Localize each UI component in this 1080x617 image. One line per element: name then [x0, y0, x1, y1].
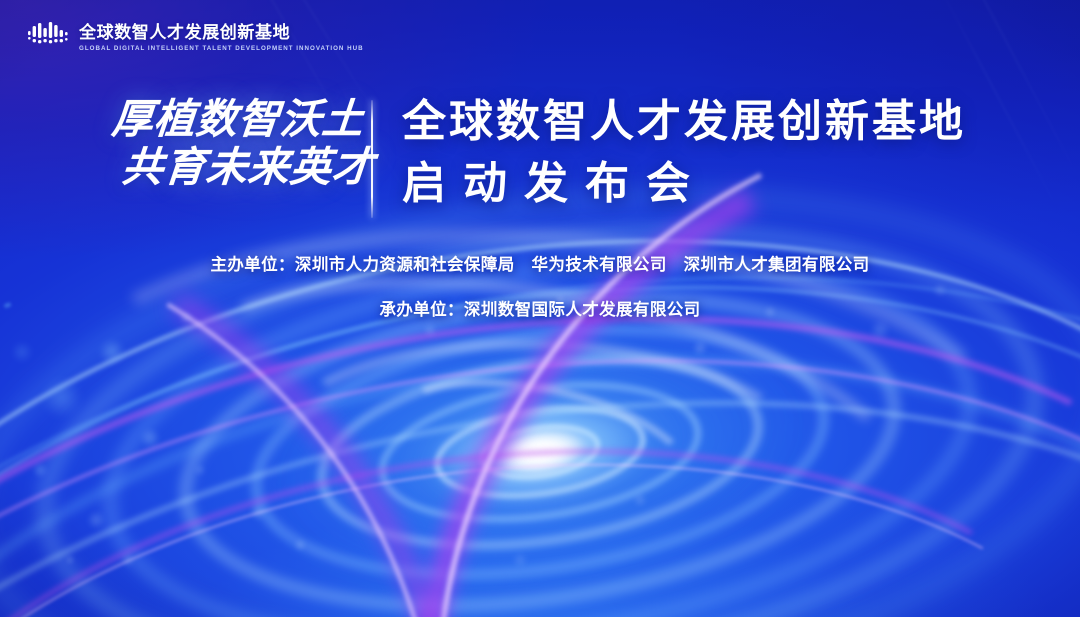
- vertical-divider: [371, 100, 373, 218]
- brand-logo: 全球数智人才发展创新基地 GLOBAL DIGITAL INTELLIGENT …: [28, 22, 364, 54]
- organizer-executor-line: 承办单位：深圳数智国际人才发展有限公司: [0, 296, 1080, 320]
- calligraphy-line-2: 共育未来英才: [120, 144, 362, 192]
- equalizer-bars-logo-icon: [28, 22, 68, 54]
- brand-name-en: GLOBAL DIGITAL INTELLIGENT TALENT DEVELO…: [79, 46, 364, 52]
- calligraphy-line-1: 厚植数智沃土: [110, 96, 362, 144]
- headline-sub: 启动发布会: [402, 158, 966, 210]
- brand-name-cn: 全球数智人才发展创新基地: [79, 23, 290, 42]
- organizer-host-line: 主办单位：深圳市人力资源和社会保障局 华为技术有限公司 深圳市人才集团有限公司: [0, 251, 1080, 275]
- headline-main: 全球数智人才发展创新基地: [402, 96, 966, 148]
- calligraphy-slogan: 厚植数智沃土 共育未来英才: [112, 96, 360, 191]
- headline-block: 全球数智人才发展创新基地 启动发布会: [402, 96, 966, 210]
- brand-logo-text: 全球数智人才发展创新基地 GLOBAL DIGITAL INTELLIGENT …: [79, 24, 364, 52]
- event-banner-stage: 全球数智人才发展创新基地 GLOBAL DIGITAL INTELLIGENT …: [0, 0, 1080, 617]
